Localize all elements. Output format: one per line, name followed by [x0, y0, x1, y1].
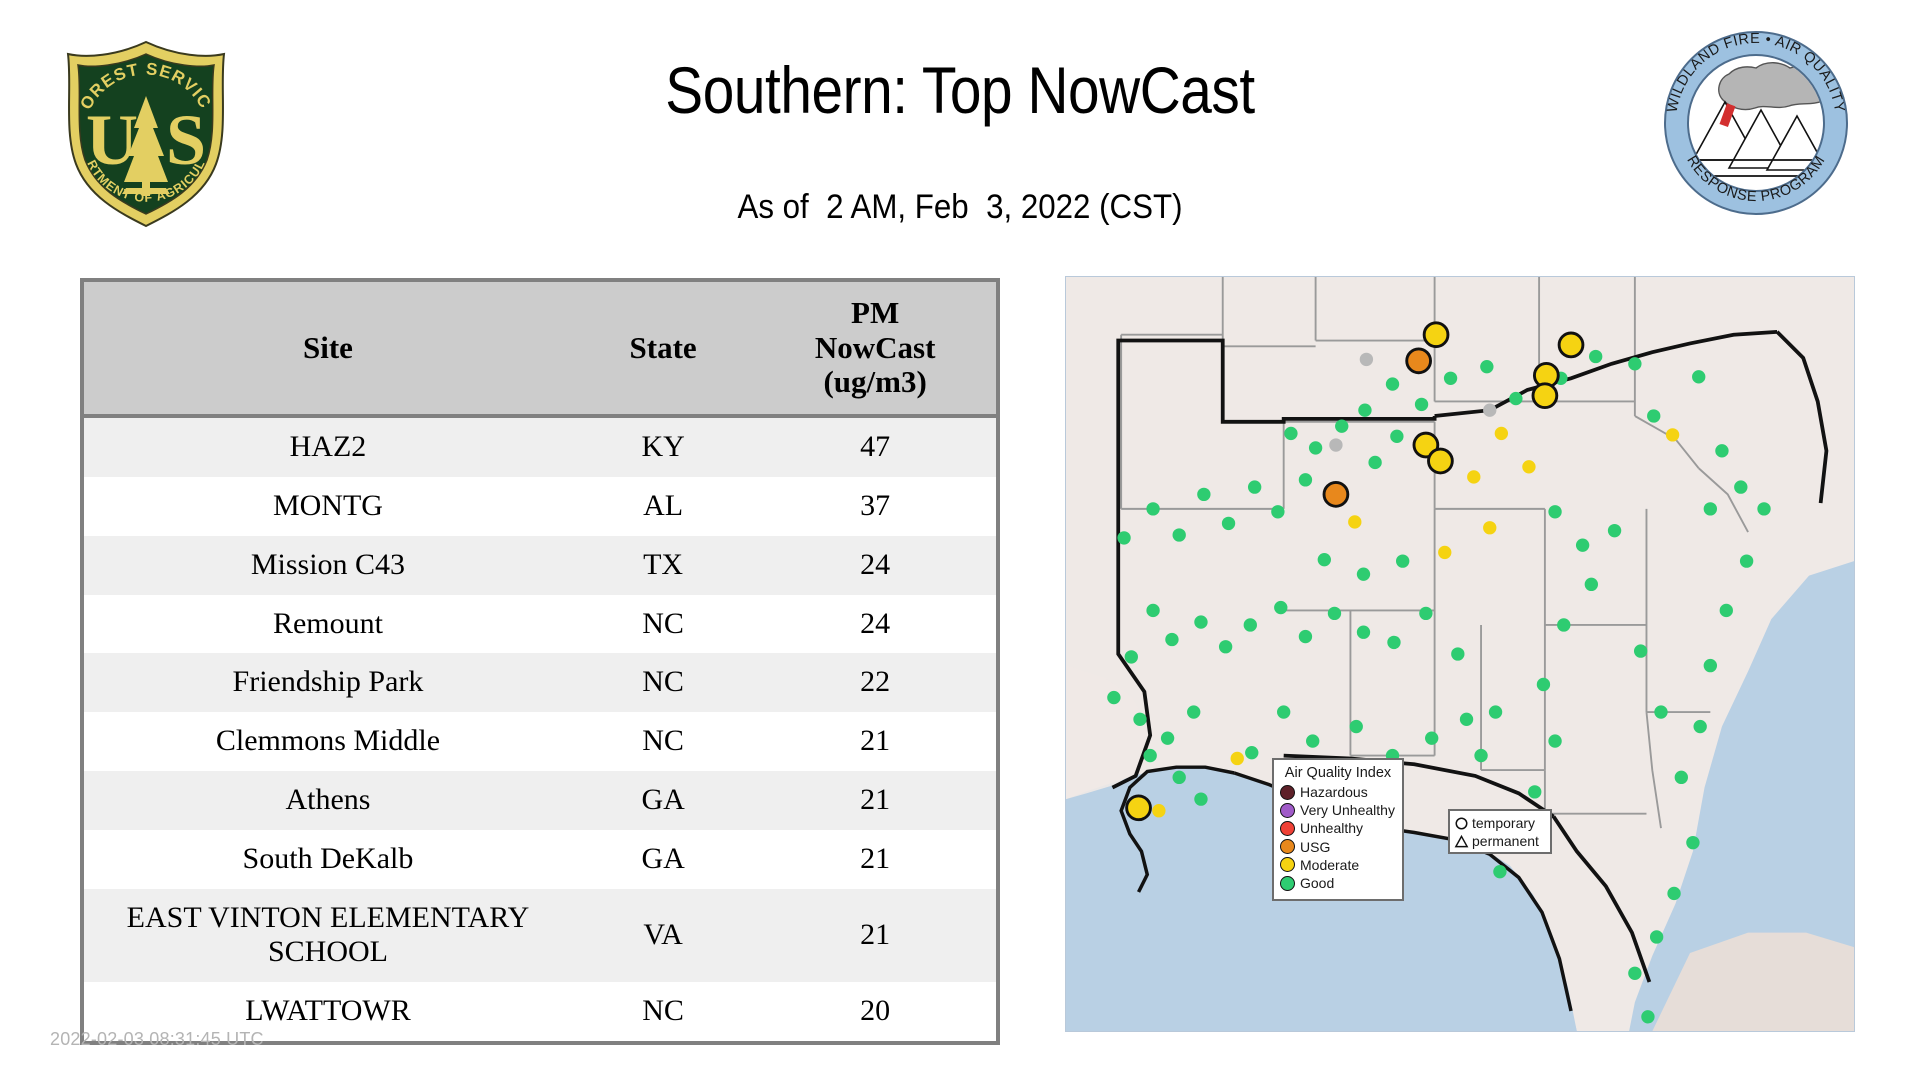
monitor-marker[interactable]: [1483, 404, 1496, 417]
monitor-marker[interactable]: [1585, 578, 1598, 591]
monitor-marker[interactable]: [1107, 691, 1120, 704]
column-header-state: State: [572, 282, 754, 416]
state-cell: TX: [572, 536, 754, 595]
state-cell: NC: [572, 653, 754, 712]
monitor-marker[interactable]: [1248, 480, 1261, 493]
pm-nowcast-cell: 21: [754, 830, 996, 889]
state-cell: KY: [572, 416, 754, 477]
monitor-marker[interactable]: [1335, 419, 1348, 432]
table-row: RemountNC24: [84, 595, 996, 654]
monitor-marker[interactable]: [1425, 731, 1438, 744]
monitor-marker[interactable]: [1357, 568, 1370, 581]
monitor-marker[interactable]: [1467, 470, 1480, 483]
aqi-legend-item: Hazardous: [1280, 783, 1396, 801]
monitor-marker[interactable]: [1533, 384, 1557, 408]
monitor-marker[interactable]: [1483, 521, 1496, 534]
monitor-marker[interactable]: [1284, 427, 1297, 440]
circle-icon: [1454, 816, 1469, 831]
monitor-marker[interactable]: [1324, 482, 1348, 506]
aqi-legend-item: Unhealthy: [1280, 819, 1396, 837]
monitor-marker[interactable]: [1693, 720, 1706, 733]
monitor-marker[interactable]: [1704, 502, 1717, 515]
monitor-marker[interactable]: [1194, 792, 1207, 805]
monitor-marker[interactable]: [1548, 505, 1561, 518]
monitor-marker[interactable]: [1608, 524, 1621, 537]
pm-header-line-2: NowCast: [758, 331, 992, 366]
monitor-marker[interactable]: [1686, 836, 1699, 849]
pm-nowcast-cell: 37: [754, 477, 996, 536]
monitor-marker[interactable]: [1143, 749, 1156, 762]
aqi-swatch-icon: [1280, 839, 1295, 854]
pm-nowcast-cell: 21: [754, 771, 996, 830]
air-quality-monitor-map[interactable]: Air Quality Index HazardousVery Unhealth…: [1065, 276, 1855, 1032]
monitor-marker[interactable]: [1146, 604, 1159, 617]
aqi-legend-title: Air Quality Index: [1280, 765, 1396, 781]
monitor-marker[interactable]: [1299, 473, 1312, 486]
monitor-marker[interactable]: [1715, 444, 1728, 457]
pm-nowcast-cell: 24: [754, 595, 996, 654]
monitor-marker[interactable]: [1650, 930, 1663, 943]
monitor-marker[interactable]: [1245, 746, 1258, 759]
monitor-marker[interactable]: [1666, 428, 1679, 441]
site-cell: South DeKalb: [84, 830, 572, 889]
monitor-marker[interactable]: [1360, 353, 1373, 366]
monitor-marker[interactable]: [1495, 427, 1508, 440]
monitor-marker[interactable]: [1197, 488, 1210, 501]
legend-temporary: temporary: [1454, 814, 1546, 832]
state-cell: NC: [572, 595, 754, 654]
monitor-marker[interactable]: [1127, 796, 1151, 820]
state-cell: VA: [572, 889, 754, 983]
monitor-marker[interactable]: [1390, 430, 1403, 443]
aqi-legend-label: Hazardous: [1300, 785, 1368, 799]
monitor-marker[interactable]: [1444, 372, 1457, 385]
monitor-marker[interactable]: [1274, 601, 1287, 614]
state-cell: GA: [572, 830, 754, 889]
monitor-marker[interactable]: [1493, 865, 1506, 878]
monitor-marker[interactable]: [1125, 650, 1138, 663]
monitor-marker[interactable]: [1165, 633, 1178, 646]
aqi-legend-label: Moderate: [1300, 858, 1359, 872]
state-cell: AL: [572, 477, 754, 536]
monitor-marker[interactable]: [1299, 630, 1312, 643]
monitor-marker[interactable]: [1152, 804, 1165, 817]
table-row: Mission C43TX24: [84, 536, 996, 595]
column-header-site: Site: [84, 282, 572, 416]
monitor-marker[interactable]: [1438, 546, 1451, 559]
aqi-legend: Air Quality Index HazardousVery Unhealth…: [1272, 758, 1404, 901]
site-cell: MONTG: [84, 477, 572, 536]
monitor-marker[interactable]: [1424, 323, 1448, 347]
monitor-marker[interactable]: [1641, 1010, 1654, 1023]
monitor-marker[interactable]: [1387, 636, 1400, 649]
aqi-legend-item: USG: [1280, 838, 1396, 856]
monitor-marker[interactable]: [1117, 531, 1130, 544]
pm-nowcast-cell: 47: [754, 416, 996, 477]
monitor-marker[interactable]: [1329, 438, 1342, 451]
monitor-marker[interactable]: [1173, 771, 1186, 784]
monitor-marker[interactable]: [1692, 370, 1705, 383]
monitor-marker[interactable]: [1358, 404, 1371, 417]
monitor-marker[interactable]: [1309, 441, 1322, 454]
monitor-marker[interactable]: [1173, 528, 1186, 541]
footer-timestamp: 2022-02-03 08:31:45 UTC: [50, 1029, 264, 1050]
state-cell: NC: [572, 712, 754, 771]
aqi-legend-item: Good: [1280, 874, 1396, 892]
table-row: Clemmons MiddleNC21: [84, 712, 996, 771]
aqi-legend-label: Good: [1300, 876, 1334, 890]
monitor-marker[interactable]: [1474, 749, 1487, 762]
site-cell: HAZ2: [84, 416, 572, 477]
monitor-marker[interactable]: [1415, 398, 1428, 411]
table-row: Friendship ParkNC22: [84, 653, 996, 712]
monitor-marker[interactable]: [1318, 553, 1331, 566]
monitor-marker[interactable]: [1740, 554, 1753, 567]
monitor-marker[interactable]: [1133, 713, 1146, 726]
monitor-marker[interactable]: [1429, 449, 1453, 473]
monitor-marker[interactable]: [1231, 752, 1244, 765]
legend-temporary-label: temporary: [1472, 816, 1535, 830]
monitor-marker[interactable]: [1328, 607, 1341, 620]
site-cell: Friendship Park: [84, 653, 572, 712]
column-header-pm-nowcast: PM NowCast (ug/m3): [754, 282, 996, 416]
monitor-marker[interactable]: [1720, 604, 1733, 617]
monitor-marker[interactable]: [1559, 333, 1583, 357]
monitor-marker[interactable]: [1161, 731, 1174, 744]
monitor-marker[interactable]: [1576, 538, 1589, 551]
monitor-marker[interactable]: [1522, 460, 1535, 473]
monitor-marker[interactable]: [1368, 456, 1381, 469]
monitor-marker[interactable]: [1306, 734, 1319, 747]
top-nowcast-table-panel: Site State PM NowCast (ug/m3) HAZ2KY47MO…: [80, 278, 1000, 1045]
monitor-marker[interactable]: [1675, 771, 1688, 784]
aqi-swatch-icon: [1280, 803, 1295, 818]
monitor-marker[interactable]: [1277, 705, 1290, 718]
site-cell: Athens: [84, 771, 572, 830]
page-subtitle: As of 2 AM, Feb 3, 2022 (CST): [77, 188, 1843, 227]
monitor-marker[interactable]: [1407, 349, 1431, 373]
aqi-swatch-icon: [1280, 821, 1295, 836]
monitor-marker[interactable]: [1357, 626, 1370, 639]
monitor-marker[interactable]: [1489, 705, 1502, 718]
aqi-legend-label: Very Unhealthy: [1300, 803, 1395, 817]
monitor-marker[interactable]: [1667, 887, 1680, 900]
aqi-legend-item: Moderate: [1280, 856, 1396, 874]
aqi-legend-label: Unhealthy: [1300, 821, 1363, 835]
state-cell: NC: [572, 982, 754, 1041]
site-cell: Mission C43: [84, 536, 572, 595]
monitor-marker[interactable]: [1654, 705, 1667, 718]
monitor-marker[interactable]: [1734, 480, 1747, 493]
pm-nowcast-cell: 24: [754, 536, 996, 595]
monitor-marker[interactable]: [1460, 713, 1473, 726]
table-row: South DeKalbGA21: [84, 830, 996, 889]
monitor-marker[interactable]: [1187, 705, 1200, 718]
monitor-marker[interactable]: [1419, 607, 1432, 620]
monitor-marker[interactable]: [1628, 357, 1641, 370]
monitor-marker[interactable]: [1350, 720, 1363, 733]
table-header-row: Site State PM NowCast (ug/m3): [84, 282, 996, 416]
site-cell: EAST VINTON ELEMENTARY SCHOOL: [84, 889, 572, 983]
aqi-legend-item: Very Unhealthy: [1280, 801, 1396, 819]
monitor-type-legend: temporary permanent: [1448, 809, 1552, 854]
map-canvas[interactable]: [1066, 277, 1854, 1031]
monitor-marker[interactable]: [1222, 517, 1235, 530]
pm-nowcast-cell: 22: [754, 653, 996, 712]
monitor-marker[interactable]: [1704, 659, 1717, 672]
pm-nowcast-cell: 21: [754, 712, 996, 771]
aqi-swatch-icon: [1280, 857, 1295, 872]
legend-permanent-label: permanent: [1472, 834, 1539, 848]
triangle-icon: [1454, 834, 1469, 849]
monitor-marker[interactable]: [1146, 502, 1159, 515]
monitor-marker[interactable]: [1386, 377, 1399, 390]
site-cell: Remount: [84, 595, 572, 654]
aqi-swatch-icon: [1280, 785, 1295, 800]
state-cell: GA: [572, 771, 754, 830]
monitor-marker[interactable]: [1219, 640, 1232, 653]
pm-nowcast-cell: 20: [754, 982, 996, 1041]
pm-header-line-1: PM: [758, 296, 992, 331]
monitor-marker[interactable]: [1557, 618, 1570, 631]
pm-nowcast-cell: 21: [754, 889, 996, 983]
monitor-marker[interactable]: [1528, 785, 1541, 798]
site-cell: Clemmons Middle: [84, 712, 572, 771]
monitor-marker[interactable]: [1271, 505, 1284, 518]
monitor-marker[interactable]: [1244, 618, 1257, 631]
monitor-marker[interactable]: [1480, 360, 1493, 373]
top-nowcast-table: Site State PM NowCast (ug/m3) HAZ2KY47MO…: [84, 282, 996, 1041]
monitor-marker[interactable]: [1348, 515, 1361, 528]
monitor-marker[interactable]: [1757, 502, 1770, 515]
monitor-marker[interactable]: [1194, 615, 1207, 628]
table-row: AthensGA21: [84, 771, 996, 830]
monitor-marker[interactable]: [1537, 678, 1550, 691]
table-row: HAZ2KY47: [84, 416, 996, 477]
monitor-marker[interactable]: [1396, 554, 1409, 567]
table-body: HAZ2KY47MONTGAL37Mission C43TX24RemountN…: [84, 416, 996, 1041]
aqi-legend-label: USG: [1300, 840, 1330, 854]
monitor-marker[interactable]: [1589, 350, 1602, 363]
monitor-marker[interactable]: [1548, 734, 1561, 747]
monitor-marker[interactable]: [1628, 967, 1641, 980]
pm-header-line-3: (ug/m3): [758, 365, 992, 400]
monitor-marker[interactable]: [1634, 644, 1647, 657]
page-title: Southern: Top NowCast: [134, 52, 1785, 128]
table-row: EAST VINTON ELEMENTARY SCHOOLVA21: [84, 889, 996, 983]
monitor-marker[interactable]: [1509, 392, 1522, 405]
monitor-marker[interactable]: [1451, 647, 1464, 660]
legend-permanent: permanent: [1454, 832, 1546, 850]
table-row: MONTGAL37: [84, 477, 996, 536]
monitor-marker[interactable]: [1647, 409, 1660, 422]
aqi-swatch-icon: [1280, 876, 1295, 891]
